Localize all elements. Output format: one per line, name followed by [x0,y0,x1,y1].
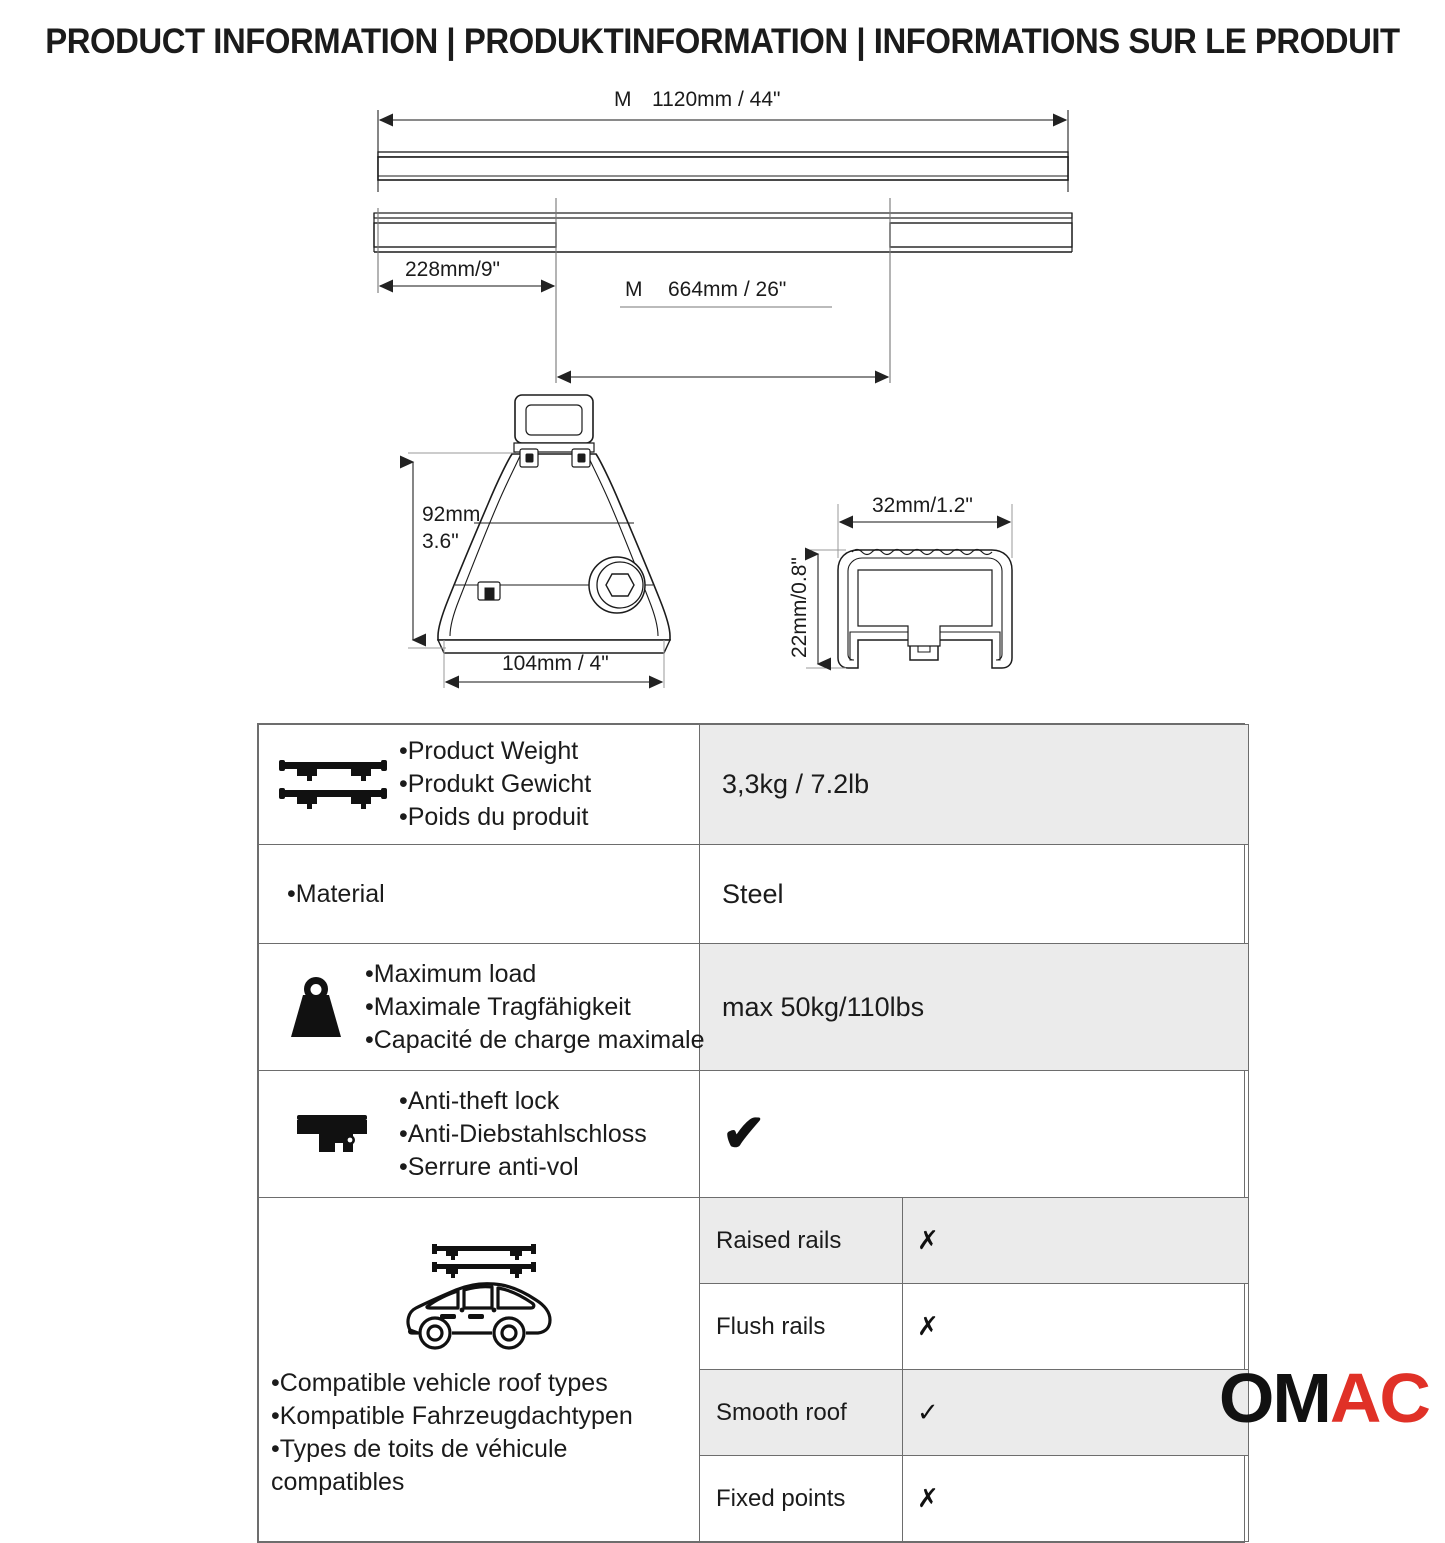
foot-height-line1: 92mm [422,503,480,526]
label-fr: •Capacité de charge maximale [365,1024,704,1057]
compatibility-labels: •Compatible vehicle roof types •Kompatib… [271,1367,633,1499]
label-fr-cont: compatibles [271,1466,633,1499]
product-information-page: PRODUCT INFORMATION | PRODUKTINFORMATION… [0,0,1445,1445]
anti-theft-labels: •Anti-theft lock •Anti-Diebstahlschloss … [399,1085,647,1184]
roof-type-mark: ✓ [903,1370,1249,1456]
compatibility-label-cell: •Compatible vehicle roof types •Kompatib… [259,1198,700,1542]
anti-theft-checkmark: ✔ [700,1108,1248,1160]
product-weight-labels: •Product Weight •Produkt Gewicht •Poids … [399,735,591,834]
product-weight-label-cell: •Product Weight •Produkt Gewicht •Poids … [259,725,700,845]
table-row-product-weight: •Product Weight •Produkt Gewicht •Poids … [259,725,1249,845]
page-title: PRODUCT INFORMATION | PRODUKTINFORMATION… [45,22,1399,62]
material-value-cell: Steel [700,845,1249,944]
spread-prefix: M [625,278,643,301]
label-fr: •Serrure anti-vol [399,1151,647,1184]
roof-type-name: Fixed points [700,1456,903,1542]
material-labels: •Material [273,878,385,911]
profile-width-value: 32mm/1.2" [872,494,973,517]
roof-type-mark: ✗ [903,1198,1249,1284]
profile-height-value: 22mm/0.8" [788,557,811,658]
label-en: •Maximum load [365,958,704,991]
roof-type-row-fixed-points: Fixed points ✗ [700,1456,1248,1542]
label-fr: •Types de toits de véhicule [271,1433,633,1466]
product-weight-value-cell: 3,3kg / 7.2lb [700,725,1249,845]
product-weight-value: 3,3kg / 7.2lb [700,769,1248,800]
logo-text-ac: AC [1330,1359,1429,1437]
material-label-cell: •Material [259,845,700,944]
label-en: •Compatible vehicle roof types [271,1367,633,1400]
bar-length-value: 1120mm / 44" [652,88,780,111]
roof-type-row-flush-rails: Flush rails ✗ [700,1284,1248,1370]
label-de: •Produkt Gewicht [399,768,591,801]
roof-type-name: Raised rails [700,1198,903,1284]
weight-icon [273,975,359,1039]
label-en: •Anti-theft lock [399,1085,647,1118]
roof-type-matrix: Raised rails ✗ Flush rails ✗ Smooth roof… [700,1198,1248,1541]
roof-type-row-raised-rails: Raised rails ✗ [700,1198,1248,1284]
table-row-compatibility: •Compatible vehicle roof types •Kompatib… [259,1198,1249,1542]
table-row-maximum-load: •Maximum load •Maximale Tragfähigkeit •C… [259,944,1249,1071]
maximum-load-value-cell: max 50kg/110lbs [700,944,1249,1071]
spread-value: 664mm / 26" [668,278,786,301]
roof-type-mark: ✗ [903,1284,1249,1370]
roof-type-name: Smooth roof [700,1370,903,1456]
logo-text-om: OM [1219,1359,1330,1437]
compatibility-matrix-cell: Raised rails ✗ Flush rails ✗ Smooth roof… [700,1198,1249,1542]
label-fr: •Poids du produit [399,801,591,834]
maximum-load-label-cell: •Maximum load •Maximale Tragfähigkeit •C… [259,944,700,1071]
label-en: •Material [287,878,385,911]
page-title-bar: PRODUCT INFORMATION | PRODUKTINFORMATION… [0,22,1445,62]
foot-width-value: 104mm / 4" [502,652,609,675]
crossbar-top-view [374,213,1072,252]
roof-type-row-smooth-roof: Smooth roof ✓ [700,1370,1248,1456]
material-value: Steel [700,879,1248,910]
profile-cross-section [838,550,1012,669]
crossbars-icon [273,756,393,814]
maximum-load-labels: •Maximum load •Maximale Tragfähigkeit •C… [365,958,704,1057]
specification-table: •Product Weight •Produkt Gewicht •Poids … [257,723,1245,1543]
table-row-material: •Material Steel [259,845,1249,944]
crossbar-side-view [378,152,1068,180]
end-offset-value: 228mm/9" [405,258,500,281]
maximum-load-value: max 50kg/110lbs [700,992,1248,1023]
anti-theft-value-cell: ✔ [700,1071,1249,1198]
anti-theft-label-cell: •Anti-theft lock •Anti-Diebstahlschloss … [259,1071,700,1198]
bar-length-prefix: M [614,88,632,111]
table-row-anti-theft-lock: •Anti-theft lock •Anti-Diebstahlschloss … [259,1071,1249,1198]
roof-type-name: Flush rails [700,1284,903,1370]
car-with-rack-icon [394,1240,566,1361]
omac-logo: OMAC [1219,1363,1429,1433]
roof-type-mark: ✗ [903,1456,1249,1542]
technical-drawing: M 1120mm / 44" [0,80,1445,720]
label-de: •Maximale Tragfähigkeit [365,991,704,1024]
label-de: •Anti-Diebstahlschloss [399,1118,647,1151]
foot-height-line2: 3.6" [422,530,459,553]
label-de: •Kompatible Fahrzeugdachtypen [271,1400,633,1433]
label-en: •Product Weight [399,735,591,768]
lock-rail-icon [273,1109,393,1159]
